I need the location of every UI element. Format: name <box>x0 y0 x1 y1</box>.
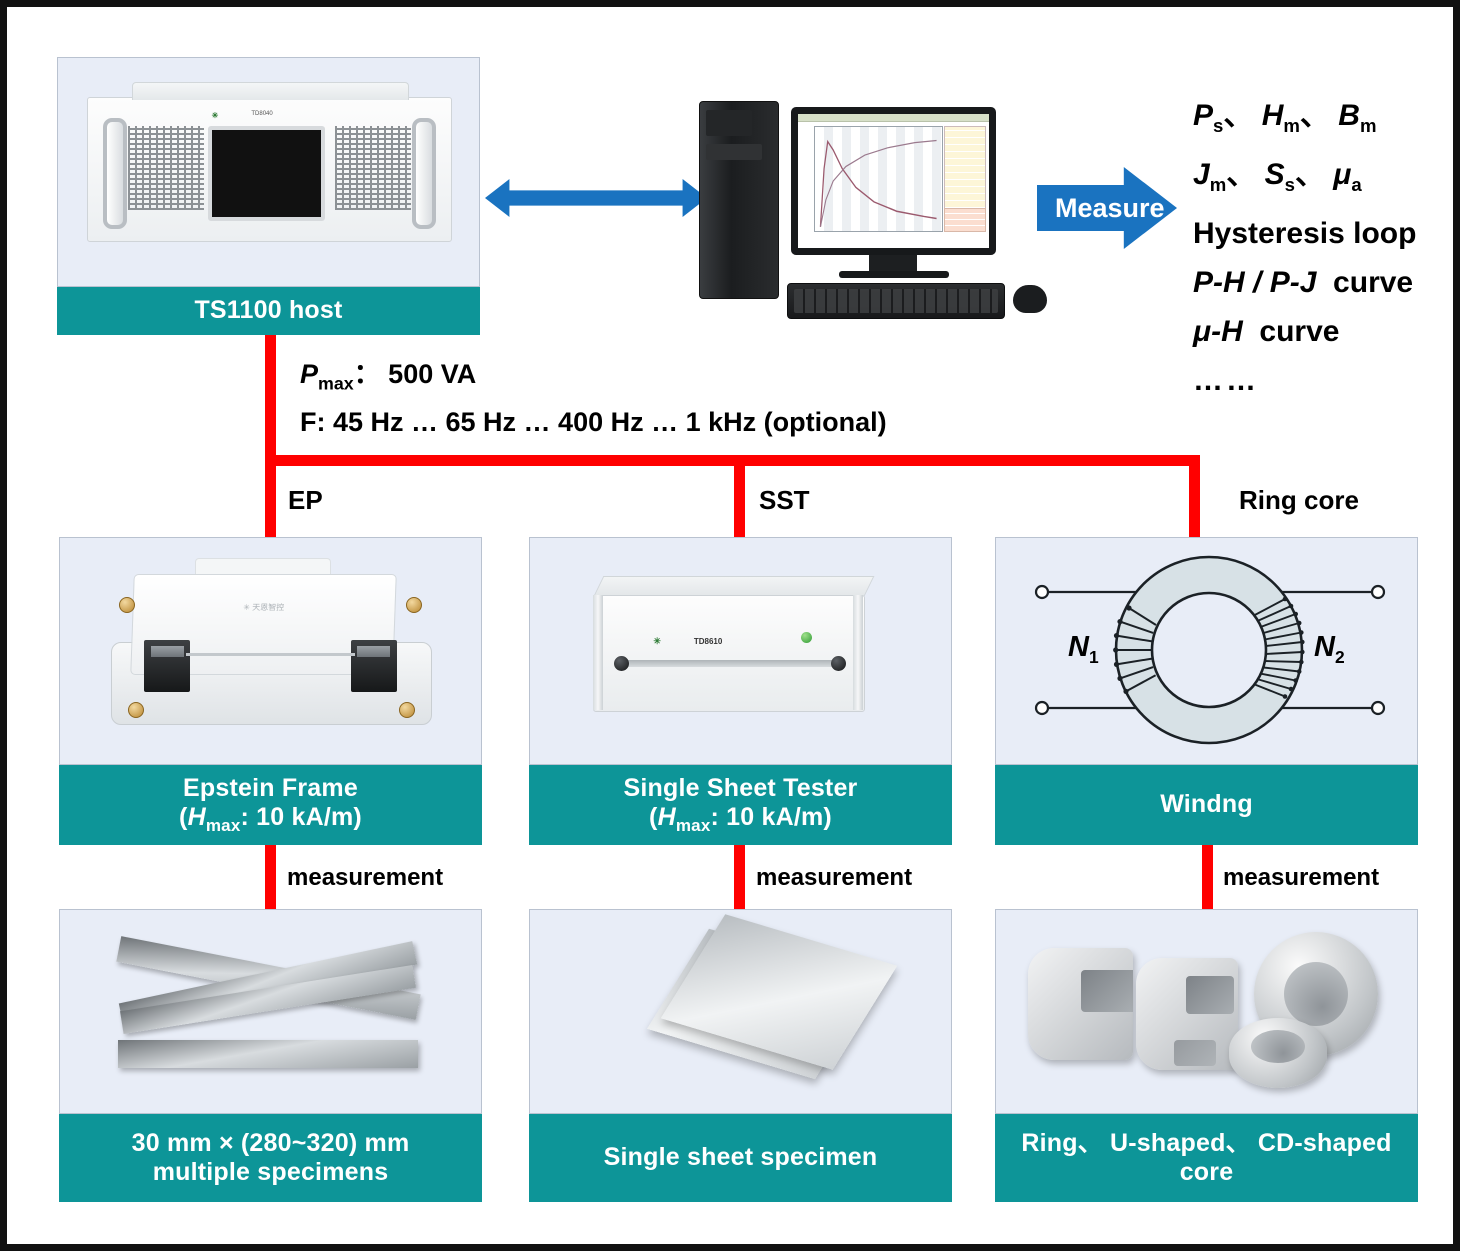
measurement-label-ep: measurement <box>287 864 443 892</box>
bus-label-ring: Ring core <box>1239 485 1359 516</box>
pc-mouse <box>1013 285 1047 313</box>
sst-sample-slot <box>618 660 837 667</box>
monitor-base <box>839 271 949 278</box>
bus-drop-sst <box>734 455 745 537</box>
bus-drop-ep <box>265 455 276 537</box>
instrument-model-label: TD8040 <box>251 111 272 117</box>
cores-caption-line1: Ring、 U-shaped、 CD-shaped <box>1021 1129 1391 1159</box>
core-u-shaped-1 <box>1028 948 1133 1060</box>
sheet-caption-label: Single sheet specimen <box>604 1143 878 1173</box>
software-plot-area <box>814 126 943 232</box>
tower-optical-drive <box>706 144 762 160</box>
bus-measurement-ep <box>265 845 276 911</box>
sst-edge-right <box>853 595 863 710</box>
strip-caption-line2: multiple specimens <box>153 1158 389 1188</box>
single-sheet-tester-caption: Single Sheet Tester (Hmax: 10 kA/m) <box>529 765 952 845</box>
power-spec: Pmax： 500 VA <box>300 352 476 394</box>
software-titlebar <box>798 114 989 122</box>
pc-tower: Haier <box>699 101 779 299</box>
strip-specimens-caption: 30 mm × (280~320) mm multiple specimens <box>59 1114 482 1202</box>
magnetic-cores-panel <box>995 909 1418 1114</box>
epstein-caption-line2: (Hmax: 10 kA/m) <box>179 803 362 836</box>
bus-horizontal-main <box>265 455 1200 466</box>
epstein-frame-caption: Epstein Frame (Hmax: 10 kA/m) <box>59 765 482 845</box>
host-caption-label: TS1100 host <box>194 296 342 326</box>
bus-measurement-sst <box>734 845 745 911</box>
winding-caption-label: Windng <box>1160 790 1253 820</box>
sheet-specimen-caption: Single sheet specimen <box>529 1114 952 1202</box>
bus-vertical-from-host <box>265 335 276 463</box>
sst-front-face: ✳ TD8610 <box>593 595 864 712</box>
desktop-computer-icon: Haier <box>691 93 1061 293</box>
epstein-brand-logo: ✳ 天恩智控 <box>243 602 284 613</box>
epstein-screw-br <box>399 702 415 718</box>
output-line-1: Jm、 Ss、 μa <box>1193 150 1416 209</box>
output-line-0: Ps、 Hm、 Bm <box>1193 91 1416 150</box>
bus-label-sst: SST <box>759 485 810 516</box>
epstein-frame-icon: ✳ 天恩智控 <box>60 538 481 764</box>
winding-label-n1: N1 <box>1068 631 1099 668</box>
output-line-3: P-H / P-J curve <box>1193 258 1416 307</box>
epstein-rail <box>186 653 354 656</box>
output-line-5: …… <box>1193 356 1416 405</box>
core-u-shaped-2 <box>1136 958 1238 1070</box>
sst-caption-line2: (Hmax: 10 kA/m) <box>649 803 832 836</box>
output-line-4: μ-H curve <box>1193 307 1416 356</box>
host-image-panel: ✳ TD8040 <box>57 57 480 287</box>
double-headed-arrow-icon <box>485 179 707 217</box>
single-sheet-tester-panel: ✳ TD8610 <box>529 537 952 765</box>
tower-top-bay <box>706 110 752 136</box>
power-spec-value: ： 500 VA <box>354 359 477 389</box>
instrument-display <box>208 126 325 220</box>
epstein-screw-tl <box>119 597 135 613</box>
toroid-winding-panel: N1 N2 <box>995 537 1418 765</box>
vent-grille-right <box>335 126 411 209</box>
bus-measurement-ring <box>1202 845 1213 911</box>
toroid-winding-diagram <box>996 538 1418 765</box>
frequency-spec: F: 45 Hz … 65 Hz … 400 Hz … 1 kHz (optio… <box>300 407 887 438</box>
output-line-2: Hysteresis loop <box>1193 209 1416 258</box>
bus-label-ep: EP <box>288 485 323 516</box>
rack-handle-left <box>103 118 127 229</box>
bus-drop-ring <box>1189 455 1200 537</box>
strip-caption-line1: 30 mm × (280~320) mm <box>132 1129 410 1159</box>
sst-model-label: TD8610 <box>694 637 722 646</box>
instrument-brand-logo: ✳ <box>212 111 219 120</box>
sheet-specimen-panel <box>529 909 952 1114</box>
magnetic-cores-icon <box>996 910 1417 1113</box>
host-caption: TS1100 host <box>57 287 480 335</box>
epstein-frame-panel: ✳ 天恩智控 <box>59 537 482 765</box>
measurement-label-sst: measurement <box>756 864 912 892</box>
magnetic-cores-caption: Ring、 U-shaped、 CD-shaped core <box>995 1114 1418 1202</box>
strip-specimen-4 <box>118 1040 418 1068</box>
diagram-canvas: ✳ TD8040 TS1100 host Haier <box>0 0 1460 1251</box>
winding-caption: Windng <box>995 765 1418 845</box>
rack-handle-right <box>412 118 436 229</box>
cores-caption-line2: core <box>1180 1158 1234 1188</box>
sheet-specimen-front <box>661 914 897 1070</box>
epstein-clamp-right <box>351 640 397 692</box>
rack-instrument-icon: ✳ TD8040 <box>87 97 451 243</box>
monitor-screen <box>798 114 989 248</box>
core-ring-small <box>1229 1018 1327 1088</box>
epstein-caption-line1: Epstein Frame <box>183 774 358 804</box>
strip-specimens-icon <box>60 910 481 1113</box>
pc-keyboard <box>787 283 1005 319</box>
sst-knob-right <box>831 656 846 671</box>
sst-knob-left <box>614 656 629 671</box>
measure-label: Measure <box>1055 193 1165 224</box>
epstein-clamp-left <box>144 640 190 692</box>
epstein-screw-tr <box>406 597 422 613</box>
sst-edge-left <box>593 595 603 710</box>
software-result-list <box>944 208 986 232</box>
winding-label-n2: N2 <box>1314 631 1345 668</box>
vent-grille-left <box>128 126 204 209</box>
sst-power-led <box>801 632 812 643</box>
software-curves <box>815 127 942 231</box>
sheet-specimen-icon <box>530 910 951 1113</box>
pc-monitor <box>791 107 996 255</box>
measurement-label-ring: measurement <box>1223 864 1379 892</box>
strip-specimens-panel <box>59 909 482 1114</box>
sst-brand-logo: ✳ <box>653 636 661 647</box>
single-sheet-tester-icon: ✳ TD8610 <box>530 538 951 764</box>
sst-caption-line1: Single Sheet Tester <box>624 774 858 804</box>
measurement-outputs-list: Ps、 Hm、 Bm Jm、 Ss、 μa Hysteresis loop P-… <box>1193 91 1416 405</box>
epstein-screw-bl <box>128 702 144 718</box>
